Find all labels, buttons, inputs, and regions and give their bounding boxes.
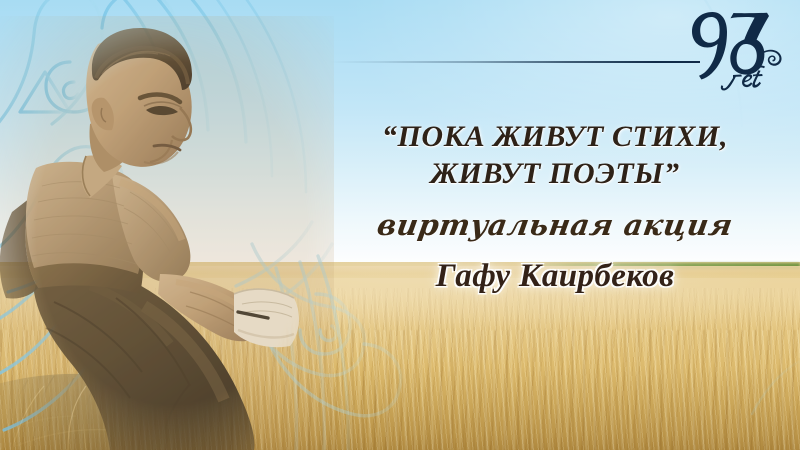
author-name: Гафу Каирбеков	[320, 256, 790, 296]
decorative-rule	[330, 61, 700, 63]
event-subtitle: виртуальная акция	[317, 208, 792, 242]
poster-canvas: “ПОКА ЖИВУТ СТИХИ, ЖИВУТ ПОЭТЫ” виртуаль…	[0, 0, 800, 450]
text-block: “ПОКА ЖИВУТ СТИХИ, ЖИВУТ ПОЭТЫ” виртуаль…	[320, 118, 790, 296]
headline-line-2: ЖИВУТ ПОЭТЫ”	[320, 155, 790, 192]
poet-photograph	[0, 16, 334, 450]
headline-line-1: “ПОКА ЖИВУТ СТИХИ,	[320, 118, 790, 155]
95-years-anniversary-logo	[686, 8, 790, 94]
